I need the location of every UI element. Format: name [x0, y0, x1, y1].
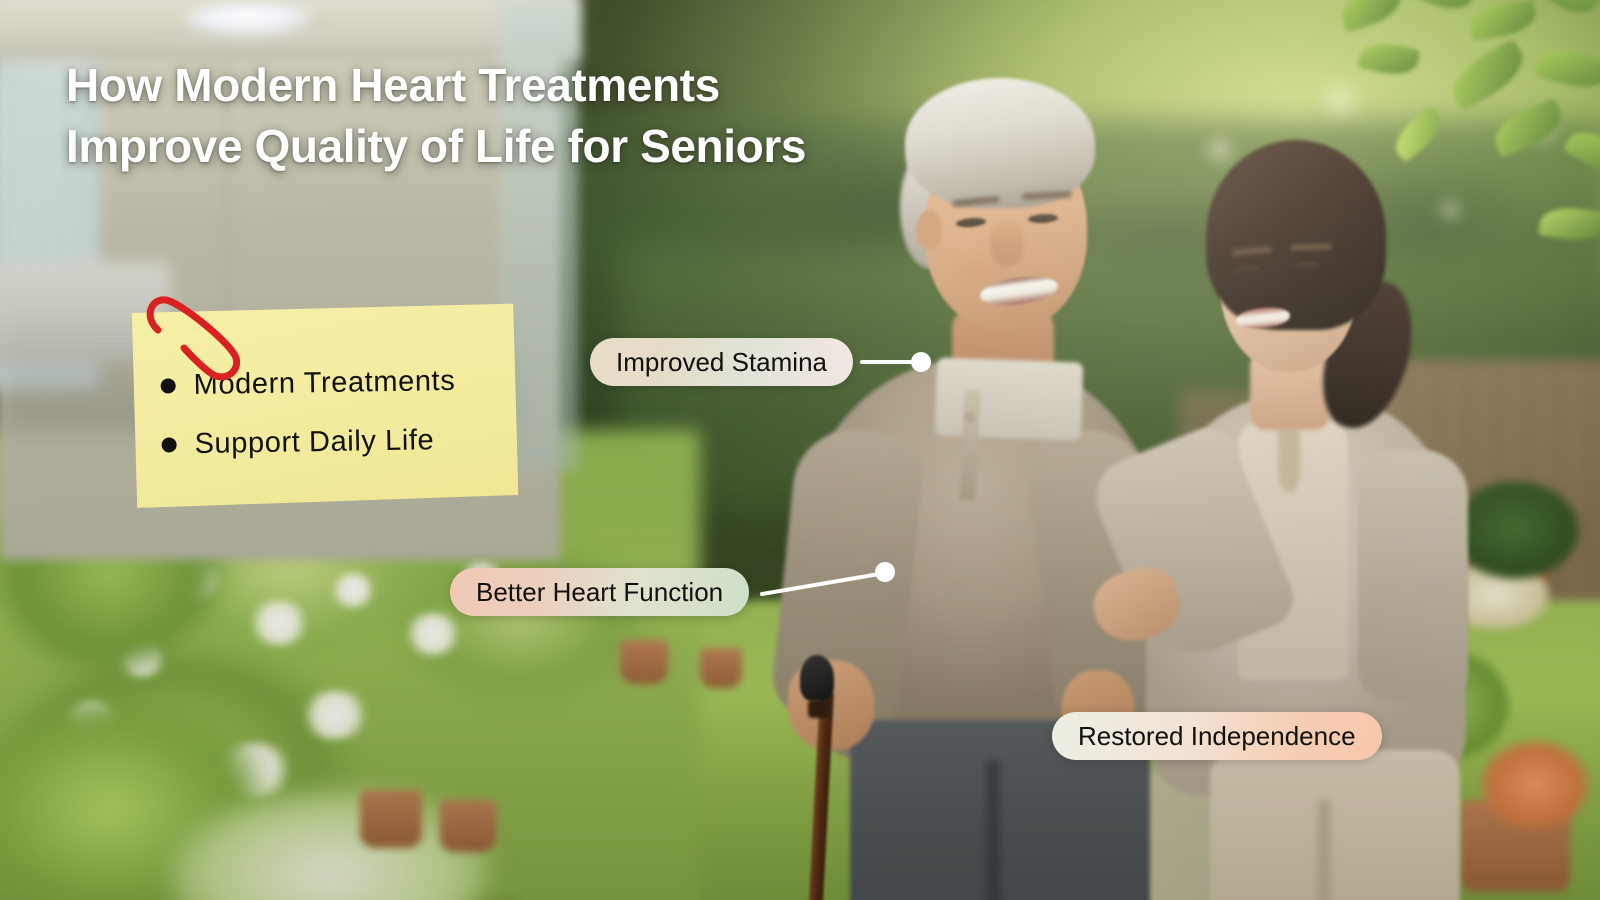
callout-connectors	[0, 0, 1600, 900]
callout-better-heart-function[interactable]: Better Heart Function	[450, 568, 749, 616]
poster-scene: How Modern Heart Treatments Improve Qual…	[0, 0, 1600, 900]
callout-restored-independence[interactable]: Restored Independence	[1052, 712, 1382, 760]
callout-improved-stamina[interactable]: Improved Stamina	[590, 338, 853, 386]
